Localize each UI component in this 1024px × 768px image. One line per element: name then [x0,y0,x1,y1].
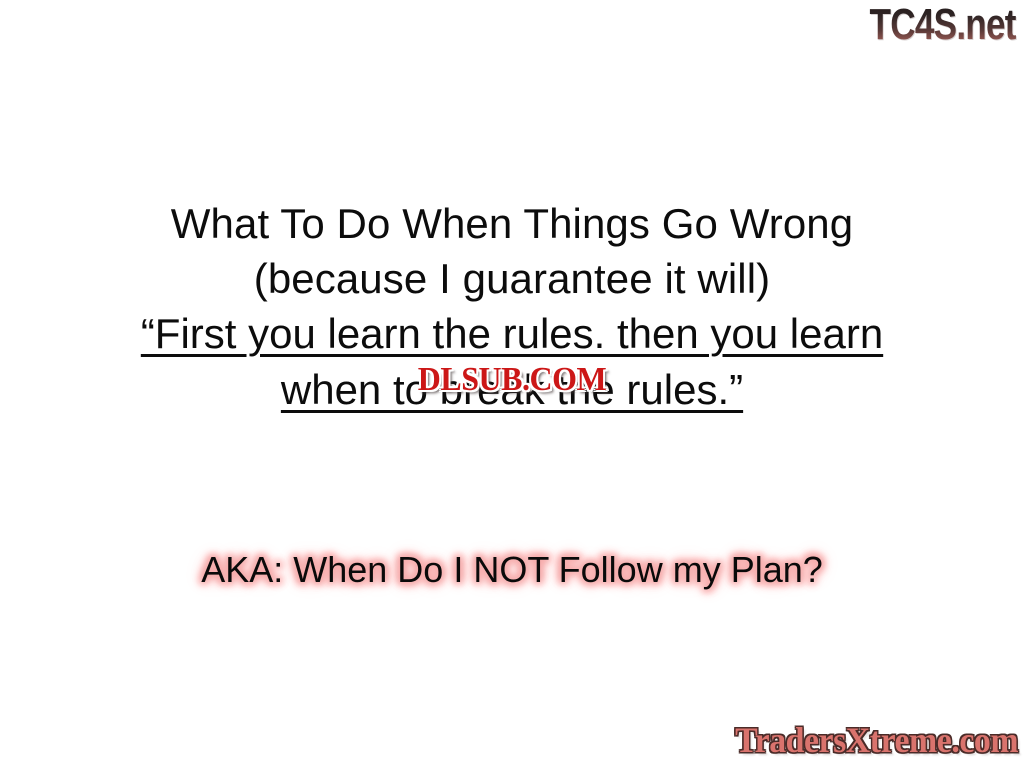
quote-line-1-text: “First you learn the rules. then you lea… [141,310,883,357]
headline-primary: What To Do When Things Go Wrong [0,196,1024,251]
quote-line-1: “First you learn the rules. then you lea… [0,306,1024,362]
slide-canvas: TC4S.net What To Do When Things Go Wrong… [0,0,1024,768]
brand-logo-tc4s: TC4S.net [870,2,1016,48]
brand-logo-tradersxtreme: TradersXtreme.com [735,720,1018,760]
watermark-dlsub: DLSUB.COM [418,362,606,398]
aka-callout: AKA: When Do I NOT Follow my Plan? [0,548,1024,592]
headline-secondary: (because I guarantee it will) [0,251,1024,306]
